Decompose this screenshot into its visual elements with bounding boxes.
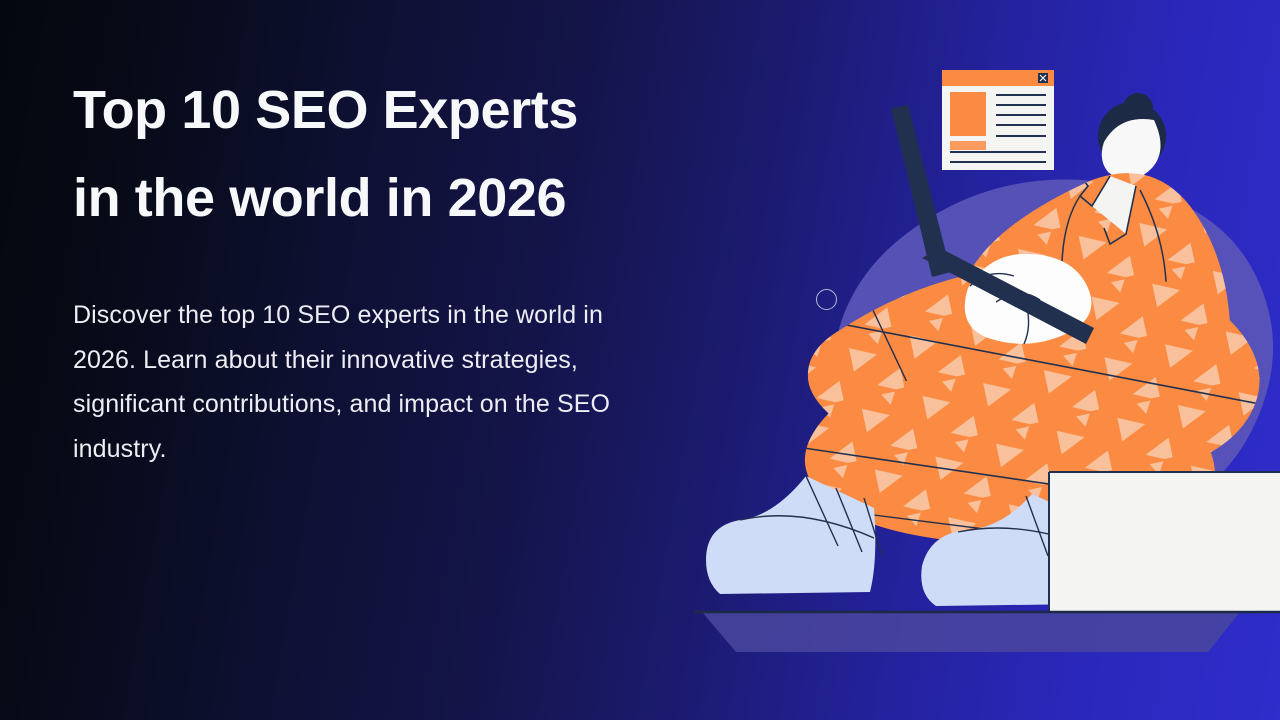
close-icon <box>1038 73 1048 83</box>
page-title: Top 10 SEO Experts in the world in 2026 <box>73 66 763 242</box>
figure-head <box>1098 93 1166 180</box>
slide-canvas: Top 10 SEO Experts in the world in 2026 … <box>0 0 1280 720</box>
white-block-seat <box>1049 472 1280 612</box>
thumbnail-block <box>950 92 986 136</box>
article-window-card <box>942 70 1054 170</box>
page-description: Discover the top 10 SEO experts in the w… <box>73 242 643 471</box>
text-column: Top 10 SEO Experts in the world in 2026 … <box>73 66 763 471</box>
decor-circle-outline <box>816 289 837 310</box>
hair-bun <box>1123 93 1153 123</box>
floor-shadow <box>702 612 1240 652</box>
caption-bar <box>950 141 986 150</box>
